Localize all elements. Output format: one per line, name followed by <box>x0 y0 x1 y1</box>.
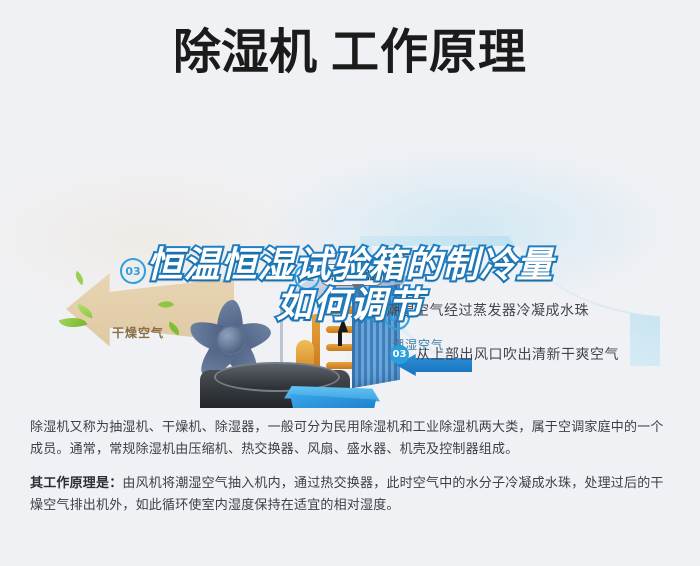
step-item: 03 从上部出风口吹出清新干爽空气 <box>390 344 619 364</box>
diagram-badge-03: 03 <box>120 258 146 284</box>
step-text: 从上部出风口吹出清新干爽空气 <box>416 344 619 364</box>
body-paragraph-2-lead: 其工作原理是： <box>30 476 122 491</box>
airflow-up-arrow-icon <box>338 318 348 332</box>
page-header: 除湿机工作原理 <box>0 26 700 79</box>
page-root: 除湿机工作原理 <box>0 0 700 566</box>
dry-air-label: 干燥空气 <box>112 324 164 341</box>
page-title-part1: 除湿机 <box>173 24 317 80</box>
page-title: 除湿机工作原理 <box>173 26 527 79</box>
diagram-badge-02: 02 <box>294 264 320 290</box>
article-body: 除湿机又称为抽湿机、干燥机、除湿器，一般可分为民用除湿机和工业除湿机两大类，属于… <box>30 417 675 529</box>
fan-hub <box>216 325 246 355</box>
step-badge: 02 <box>360 301 379 320</box>
body-paragraph-2: 其工作原理是：由风机将潮湿空气抽入机内，通过热交换器，此时空气中的水分子冷凝成水… <box>30 473 675 517</box>
heat-exchanger-callout: 热交换器 <box>320 264 384 286</box>
airflow-up-arrow-shaft <box>338 332 342 346</box>
callout-tail-icon <box>352 284 364 295</box>
body-paragraph-2-rest: 由风机将潮湿空气抽入机内，通过热交换器，此时空气中的水分子冷凝成水珠，处理过后的… <box>30 476 664 513</box>
body-paragraph-1: 除湿机又称为抽湿机、干燥机、除湿器，一般可分为民用除湿机和工业除湿机两大类，属于… <box>30 417 675 461</box>
step-text: 潮湿空气经过蒸发器冷凝成水珠 <box>386 300 589 320</box>
page-title-part2: 工作原理 <box>331 24 527 80</box>
step-item: 02 潮湿空气经过蒸发器冷凝成水珠 <box>360 300 589 320</box>
step-badge: 03 <box>390 345 409 364</box>
dehumidifier-diagram: 水箱 03 干燥空气 02 热交换器 01 潮湿空气 <box>0 118 700 408</box>
